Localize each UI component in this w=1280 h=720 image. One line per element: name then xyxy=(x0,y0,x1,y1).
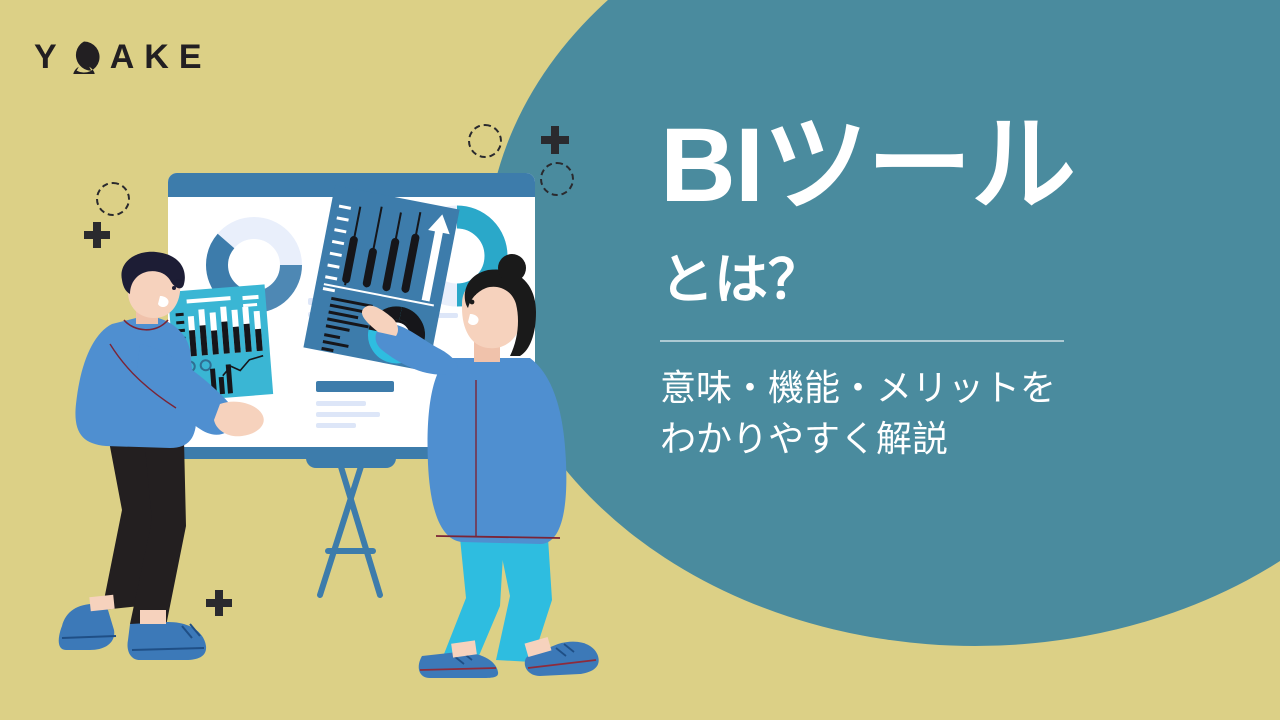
poster-axis-tick xyxy=(325,275,337,280)
poster-candle-body xyxy=(362,247,377,288)
poster-text-row xyxy=(324,333,340,339)
poster-axis-tick xyxy=(330,252,342,257)
poster-axis-tick xyxy=(336,216,348,221)
plus-top-center xyxy=(541,126,569,154)
page-title: BIツール xyxy=(660,112,1075,219)
poster-text-row xyxy=(323,340,349,348)
poster-canvas: Y A K E xyxy=(0,0,1280,720)
poster-text-row xyxy=(326,324,350,332)
page-subtitle: とは？ xyxy=(660,252,822,309)
poster-axis-tick xyxy=(334,228,346,233)
ring-with-notch-icon xyxy=(67,40,101,74)
board-placeholder-line xyxy=(316,412,380,417)
poster-axis-tick xyxy=(339,205,351,210)
page-description: 意味・機能・メリットを わかりやすく解説 xyxy=(660,362,1056,464)
board-heading-bar xyxy=(316,381,394,392)
logo-letter-k: K xyxy=(144,40,170,74)
logo-letter-e: E xyxy=(179,40,203,74)
poster-candle-body xyxy=(382,237,400,292)
plus-left xyxy=(84,222,110,248)
person-carrying-chart-poster xyxy=(44,258,284,678)
poster-axis-tick xyxy=(327,263,339,268)
dashed-circle-on-accent xyxy=(540,162,574,196)
whiteboard-tray xyxy=(306,452,396,468)
brand-logo[interactable]: Y A K E xyxy=(34,40,203,74)
person-pinning-poster-on-board xyxy=(400,258,630,678)
logo-letter-y: Y xyxy=(34,40,58,74)
board-placeholder-line xyxy=(316,423,356,428)
poster-axis-tick xyxy=(332,240,344,245)
logo-letter-a: A xyxy=(110,40,136,74)
title-divider xyxy=(660,340,1064,342)
poster-axis-tick xyxy=(323,287,335,292)
board-placeholder-line xyxy=(316,401,366,406)
dashed-circle-mid xyxy=(468,124,502,158)
poster-text-row xyxy=(321,347,333,352)
dashed-circle-top-left xyxy=(96,182,130,216)
